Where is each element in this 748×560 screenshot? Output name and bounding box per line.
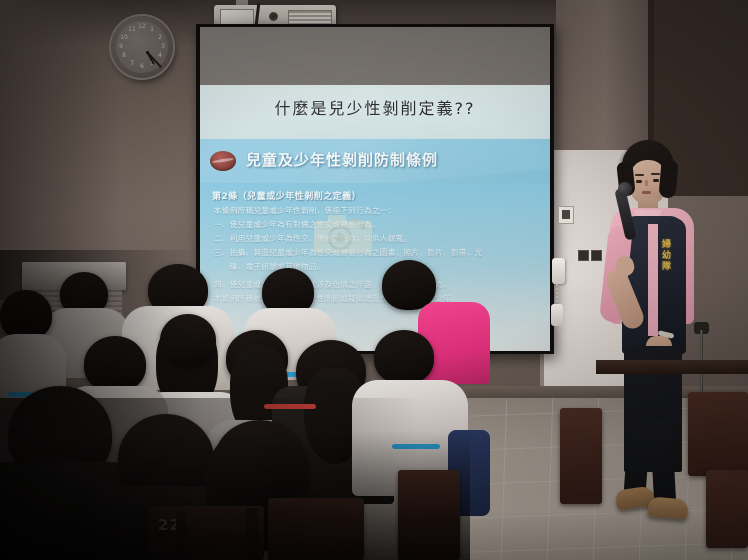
photo-scene: 12 1 2 3 4 5 6 7 8 9 10 11 什麼是兒少性剝削定義?? — [0, 0, 748, 560]
student-head — [160, 314, 216, 366]
chair-back[interactable] — [560, 408, 602, 504]
floor-shadow — [0, 398, 420, 560]
chair-back[interactable] — [706, 470, 748, 548]
student-head — [84, 336, 146, 392]
student-head — [374, 330, 434, 384]
table-edge — [596, 360, 748, 374]
chair-back[interactable] — [688, 392, 748, 476]
student-head — [0, 290, 52, 340]
